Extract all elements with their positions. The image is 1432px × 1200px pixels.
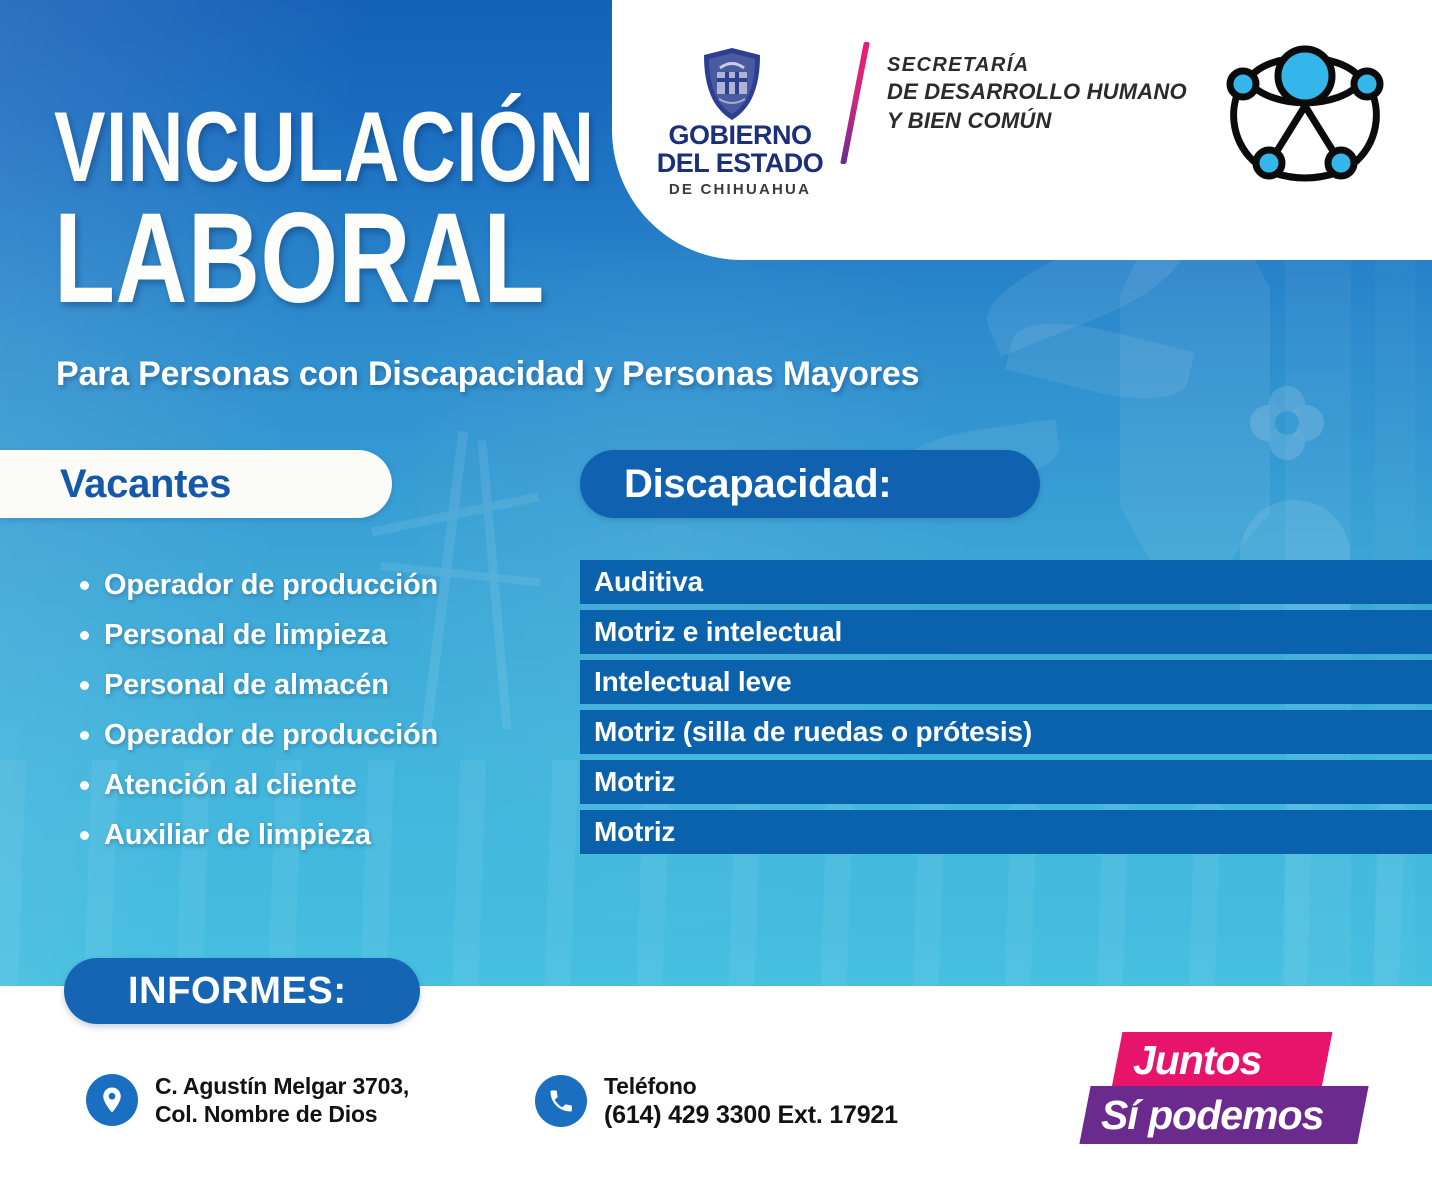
list-item: Operador de producción bbox=[78, 560, 578, 610]
address-text: C. Agustín Melgar 3703, Col. Nombre de D… bbox=[155, 1072, 409, 1128]
bullet-icon bbox=[78, 781, 104, 790]
campaign-logo: Juntos Sí podemos bbox=[1085, 1032, 1375, 1162]
poster-title-line-1: VINCULACIÓN bbox=[54, 97, 595, 196]
address-line-1: C. Agustín Melgar 3703, bbox=[155, 1073, 409, 1099]
informes-badge: INFORMES: bbox=[64, 958, 420, 1024]
vacantes-badge-label: Vacantes bbox=[0, 450, 392, 518]
poster-canvas: GOBIERNO DEL ESTADO DE CHIHUAHUA SECRETA… bbox=[0, 0, 1432, 1200]
disability-text: Motriz bbox=[580, 816, 675, 848]
discapacidad-badge-label: Discapacidad: bbox=[580, 450, 1040, 518]
address-contact: C. Agustín Melgar 3703, Col. Nombre de D… bbox=[86, 1072, 409, 1128]
poster-title-line-2: LABORAL bbox=[54, 195, 545, 323]
phone-icon bbox=[535, 1075, 587, 1127]
gov-line-2: DEL ESTADO bbox=[640, 150, 840, 178]
gov-line-1: GOBIERNO bbox=[640, 122, 840, 150]
disability-text: Auditiva bbox=[580, 566, 703, 598]
network-nodes-icon bbox=[1212, 26, 1397, 191]
bullet-icon bbox=[78, 581, 104, 590]
bullet-icon bbox=[78, 731, 104, 740]
vacancy-text: Personal de almacén bbox=[104, 669, 389, 702]
secretariat-line-1: SECRETARÍA bbox=[887, 52, 1187, 78]
list-item: Personal de almacén bbox=[78, 660, 578, 710]
poster-subtitle: Para Personas con Discapacidad y Persona… bbox=[56, 355, 919, 394]
gov-line-3: DE CHIHUAHUA bbox=[640, 181, 840, 198]
disability-text: Motriz (silla de ruedas o prótesis) bbox=[580, 716, 1032, 748]
vacantes-badge: Vacantes bbox=[0, 450, 392, 518]
vacancy-text: Personal de limpieza bbox=[104, 619, 387, 652]
bullet-icon bbox=[78, 631, 104, 640]
list-item: Operador de producción bbox=[78, 710, 578, 760]
header-panel: GOBIERNO DEL ESTADO DE CHIHUAHUA SECRETA… bbox=[612, 0, 1432, 260]
bullet-icon bbox=[78, 681, 104, 690]
disability-list: Auditiva Motriz e intelectual Intelectua… bbox=[580, 560, 1432, 860]
secretariat-line-3: Y BIEN COMÚN bbox=[887, 107, 1187, 135]
list-item: Intelectual leve bbox=[580, 660, 1432, 704]
secretariat-line-2: DE DESARROLLO HUMANO bbox=[887, 78, 1187, 106]
disability-text: Motriz bbox=[580, 766, 675, 798]
phone-contact: Teléfono (614) 429 3300 Ext. 17921 bbox=[535, 1072, 898, 1131]
secretariat-wordmark: SECRETARÍA DE DESARROLLO HUMANO Y BIEN C… bbox=[887, 52, 1187, 135]
vacancy-text: Auxiliar de limpieza bbox=[104, 819, 371, 852]
list-item: Motriz bbox=[580, 810, 1432, 854]
list-item: Auxiliar de limpieza bbox=[78, 810, 578, 860]
disability-text: Intelectual leve bbox=[580, 666, 792, 698]
vacancy-text: Operador de producción bbox=[104, 569, 438, 602]
government-wordmark: GOBIERNO DEL ESTADO DE CHIHUAHUA bbox=[640, 122, 840, 198]
list-item: Motriz (silla de ruedas o prótesis) bbox=[580, 710, 1432, 754]
location-pin-icon bbox=[86, 1074, 138, 1126]
vacancy-text: Atención al cliente bbox=[104, 769, 356, 802]
bullet-icon bbox=[78, 831, 104, 840]
phone-label: Teléfono bbox=[604, 1073, 697, 1099]
phone-text: Teléfono (614) 429 3300 Ext. 17921 bbox=[604, 1072, 898, 1131]
informes-badge-label: INFORMES: bbox=[64, 958, 420, 1024]
vacancy-text: Operador de producción bbox=[104, 719, 438, 752]
vacancies-list: Operador de producción Personal de limpi… bbox=[78, 560, 578, 860]
list-item: Auditiva bbox=[580, 560, 1432, 604]
disability-text: Motriz e intelectual bbox=[580, 616, 842, 648]
header-divider bbox=[840, 42, 870, 164]
campaign-line-2: Sí podemos bbox=[1101, 1087, 1323, 1143]
discapacidad-badge: Discapacidad: bbox=[580, 450, 1040, 518]
chihuahua-shield-icon bbox=[700, 46, 764, 122]
address-line-2: Col. Nombre de Dios bbox=[155, 1101, 377, 1127]
campaign-line-1: Juntos bbox=[1133, 1033, 1261, 1087]
list-item: Motriz bbox=[580, 760, 1432, 804]
list-item: Motriz e intelectual bbox=[580, 610, 1432, 654]
phone-number: (614) 429 3300 Ext. 17921 bbox=[604, 1101, 898, 1129]
list-item: Atención al cliente bbox=[78, 760, 578, 810]
list-item: Personal de limpieza bbox=[78, 610, 578, 660]
